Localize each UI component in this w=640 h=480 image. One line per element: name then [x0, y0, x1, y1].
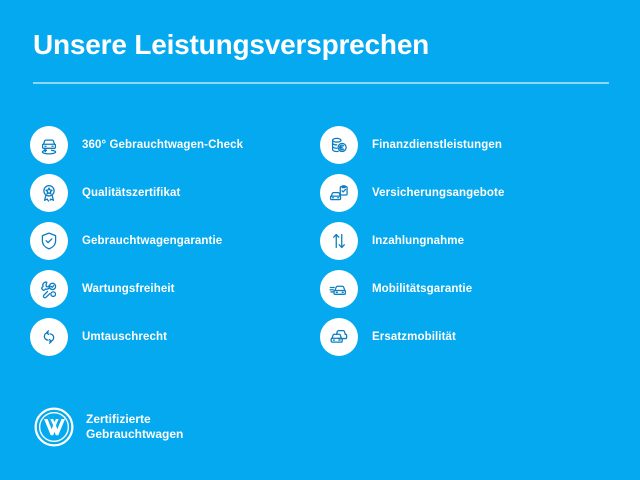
- benefit-label: Mobilitätsgarantie: [372, 283, 472, 295]
- arrows-up-down-icon: [320, 222, 358, 260]
- volkswagen-roundel-logo: [33, 406, 75, 448]
- benefit-item-inzahlungnahme[interactable]: Inzahlungnahme: [320, 222, 610, 260]
- wrench-check-icon: [30, 270, 68, 308]
- benefits-right-column: Finanzdienstleistungen Versicherungsange…: [320, 126, 610, 356]
- benefits-columns: 360° Gebrauchtwagen-Check Qualitätszerti…: [30, 126, 610, 356]
- car-motion-icon: [320, 270, 358, 308]
- benefit-item-wartungsfreiheit[interactable]: Wartungsfreiheit: [30, 270, 320, 308]
- benefit-item-umtauschrecht[interactable]: Umtauschrecht: [30, 318, 320, 356]
- benefit-item-qualitaetszertifikat[interactable]: Qualitätszertifikat: [30, 174, 320, 212]
- benefit-label: 360° Gebrauchtwagen-Check: [82, 139, 243, 151]
- two-cars-icon: [320, 318, 358, 356]
- lockup-line-2: Gebrauchtwagen: [86, 427, 183, 442]
- award-badge-icon: [30, 174, 68, 212]
- title-divider: [33, 82, 609, 84]
- header: Unsere Leistungsversprechen: [33, 28, 609, 84]
- benefit-label: Gebrauchtwagengarantie: [82, 235, 222, 247]
- benefit-item-gebrauchtwagengarantie[interactable]: Gebrauchtwagengarantie: [30, 222, 320, 260]
- benefit-item-gebrauchtwagen-check[interactable]: 360° Gebrauchtwagen-Check: [30, 126, 320, 164]
- benefit-label: Ersatzmobilität: [372, 331, 456, 343]
- benefit-label: Inzahlungnahme: [372, 235, 464, 247]
- lockup-text: Zertifizierte Gebrauchtwagen: [86, 412, 183, 442]
- footer-logo-lockup: Zertifizierte Gebrauchtwagen: [33, 406, 183, 448]
- car-clipboard-icon: [320, 174, 358, 212]
- benefits-left-column: 360° Gebrauchtwagen-Check Qualitätszerti…: [30, 126, 320, 356]
- benefit-label: Finanzdienstleistungen: [372, 139, 502, 151]
- page-title: Unsere Leistungsversprechen: [33, 28, 609, 62]
- exchange-arrows-icon: [30, 318, 68, 356]
- lockup-line-1: Zertifizierte: [86, 412, 183, 427]
- benefit-label: Qualitätszertifikat: [82, 187, 180, 199]
- car-check-360-icon: [30, 126, 68, 164]
- benefit-item-ersatzmobilitaet[interactable]: Ersatzmobilität: [320, 318, 610, 356]
- benefit-item-finanzdienstleistungen[interactable]: Finanzdienstleistungen: [320, 126, 610, 164]
- benefit-label: Versicherungsangebote: [372, 187, 504, 199]
- benefit-item-mobilitaetsgarantie[interactable]: Mobilitätsgarantie: [320, 270, 610, 308]
- benefit-item-versicherungsangebote[interactable]: Versicherungsangebote: [320, 174, 610, 212]
- promise-panel: Unsere Leistungsversprechen 360° Gebrauc…: [0, 0, 640, 480]
- coins-euro-icon: [320, 126, 358, 164]
- shield-check-icon: [30, 222, 68, 260]
- benefit-label: Umtauschrecht: [82, 331, 167, 343]
- benefit-label: Wartungsfreiheit: [82, 283, 175, 295]
